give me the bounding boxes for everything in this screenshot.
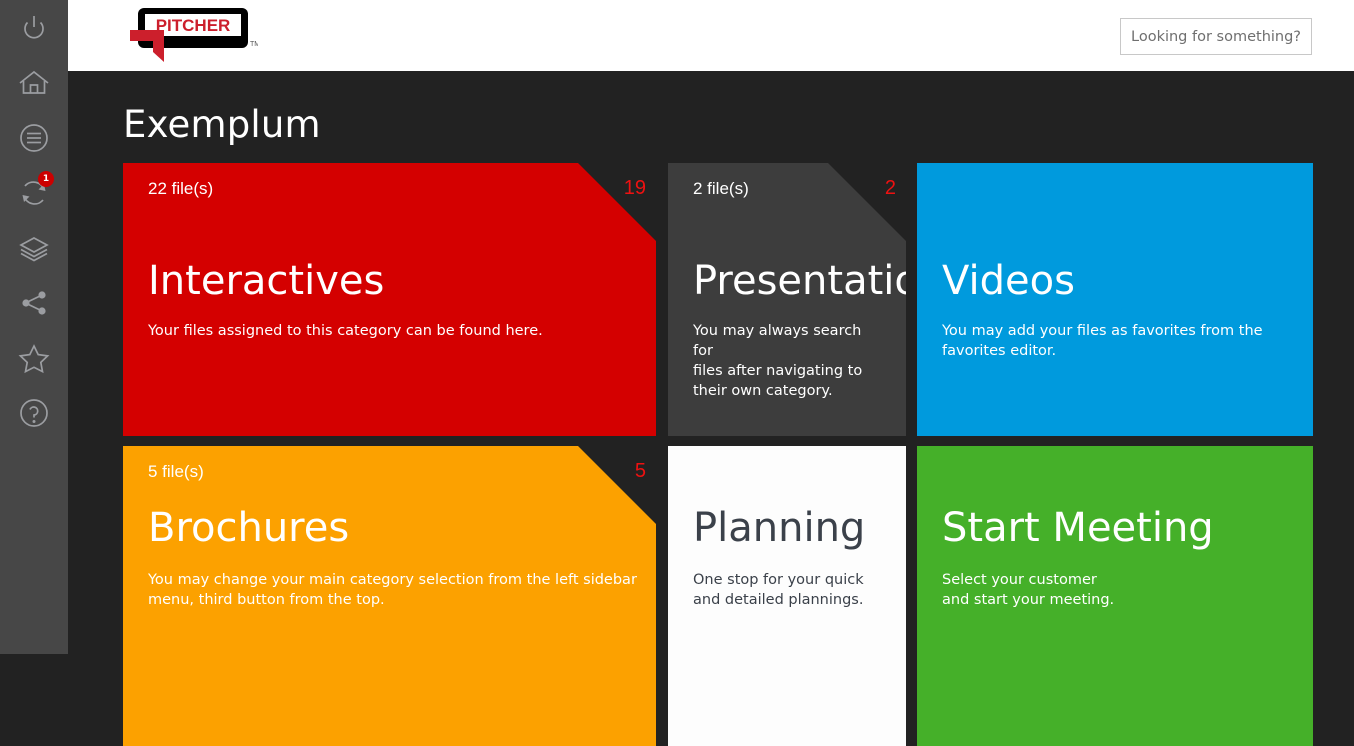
home-icon [17,67,51,99]
sidebar-item-layers[interactable] [0,220,68,275]
sidebar-item-home[interactable] [0,55,68,110]
tile-slot-videos: Videos You may add your files as favorit… [917,163,1313,436]
tile-interactives[interactable]: 22 file(s) Interactives Your files assig… [123,163,656,436]
tile-planning[interactable]: Planning One stop for your quick and det… [668,446,906,746]
logo-tm: TM [250,41,258,48]
pitcher-logo: PITCHER TM [128,6,258,62]
tile-start-meeting[interactable]: Start Meeting Select your customer and s… [917,446,1313,746]
tile-file-count: 5 file(s) [148,462,204,482]
tile-title: Interactives [148,261,384,301]
tile-title: Videos [942,261,1075,301]
power-icon [18,12,50,44]
tile-brochures[interactable]: 5 file(s) Brochures You may change your … [123,446,656,746]
tile-description: Select your customer and start your meet… [942,570,1292,610]
tile-corner-number: 5 [635,460,646,483]
tile-slot-planning: Planning One stop for your quick and det… [668,446,906,746]
tile-corner-number: 2 [885,177,896,200]
tile-title: Start Meeting [942,508,1214,548]
tile-presentations[interactable]: 2 file(s) Presentations You may always s… [668,163,906,436]
help-icon [18,397,50,429]
menu-icon [18,122,50,154]
tile-slot-presentations: 2 2 file(s) Presentations You may always… [668,163,906,436]
sidebar-item-sync[interactable]: 1 [0,165,68,220]
tile-file-count: 2 file(s) [693,179,749,199]
page-title: Exemplum [123,103,321,146]
tile-description: You may add your files as favorites from… [942,321,1292,361]
sidebar-item-favorites[interactable] [0,330,68,385]
tile-description: You may always search for files after na… [693,321,883,401]
tile-file-count: 22 file(s) [148,179,213,199]
sidebar-item-share[interactable] [0,275,68,330]
star-icon [17,342,51,374]
tile-title: Presentations [693,261,906,301]
layers-icon [17,232,51,264]
tile-title: Planning [693,508,865,548]
tile-slot-brochures: 5 5 file(s) Brochures You may change you… [123,446,656,746]
tile-description: You may change your main category select… [148,570,638,610]
main-stage: Exemplum 19 22 file(s) Interactives Your… [68,71,1354,654]
tile-videos[interactable]: Videos You may add your files as favorit… [917,163,1313,436]
logo-wordmark: PITCHER [156,16,231,35]
sync-badge: 1 [38,171,54,187]
tile-title: Brochures [148,508,349,548]
top-header: PITCHER TM [68,0,1354,71]
tile-slot-interactives: 19 22 file(s) Interactives Your files as… [123,163,656,436]
tile-description: One stop for your quick and detailed pla… [693,570,903,610]
tile-slot-start-meeting: Start Meeting Select your customer and s… [917,446,1313,746]
sidebar-item-power[interactable] [0,0,68,55]
tile-corner-number: 19 [624,177,646,200]
tile-description: Your files assigned to this category can… [148,321,628,341]
share-icon [18,287,50,319]
sidebar-item-menu[interactable] [0,110,68,165]
sidebar: 1 [0,0,68,654]
search-input[interactable] [1120,18,1312,55]
sidebar-item-help[interactable] [0,385,68,440]
